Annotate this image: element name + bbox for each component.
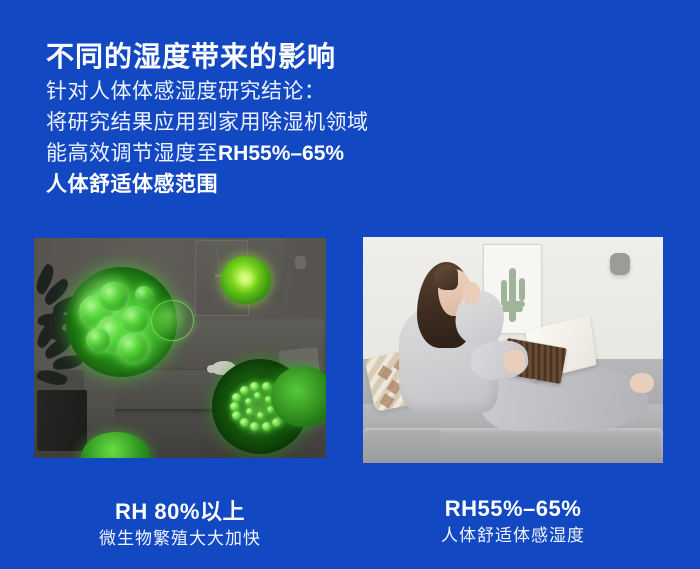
body-copy: 针对人体体感湿度研究结论： 将研究结果应用到家用除湿机领域 能高效调节湿度至RH… xyxy=(46,76,369,200)
body-line-2: 将研究结果应用到家用除湿机领域 xyxy=(46,107,369,138)
photo-comfort-humidity-woman xyxy=(363,237,663,463)
wall-knob-icon xyxy=(295,256,306,269)
body-line-3-prefix: 能高效调节湿度至 xyxy=(46,142,218,165)
germ-spike-ring xyxy=(260,406,264,410)
germ-spike-inner xyxy=(245,398,252,405)
cushion-motif xyxy=(377,365,392,380)
caption-left-title: RH 80%以上 xyxy=(34,498,326,526)
humidity-infographic-poster: 不同的湿度带来的影响 针对人体体感湿度研究结论： 将研究结果应用到家用除湿机领域… xyxy=(0,0,700,569)
caption-right-subtitle: 人体舒适体感湿度 xyxy=(363,523,663,549)
plant-leaf xyxy=(35,366,68,388)
body-line-4: 人体舒适体感范围 xyxy=(46,169,369,200)
caption-right: RH55%–65% 人体舒适体感湿度 xyxy=(363,495,663,549)
germ-spike xyxy=(240,386,249,395)
germ-spike xyxy=(262,382,271,391)
germ-sphere-small-top xyxy=(221,256,271,304)
woman-hair-fringe xyxy=(434,265,458,290)
germ-spike xyxy=(262,422,271,431)
caption-left: RH 80%以上 微生物繁殖大大加快 xyxy=(34,498,326,552)
woman-hand-on-head xyxy=(462,282,480,305)
body-line-1: 针对人体体感湿度研究结论： xyxy=(46,76,369,107)
germ-spike xyxy=(250,422,259,431)
cushion-motif xyxy=(380,393,395,408)
germ-spike xyxy=(250,382,259,391)
germ-spike-inner xyxy=(254,392,261,399)
germ-spike xyxy=(230,402,239,411)
woman-foot xyxy=(630,373,654,393)
sofa-arm xyxy=(363,430,441,463)
cactus-icon xyxy=(509,268,516,323)
germ-spike xyxy=(240,418,249,427)
germ-blob xyxy=(122,306,149,332)
cactus-arm-right xyxy=(519,278,525,301)
germ-spike xyxy=(232,411,241,420)
page-title: 不同的湿度带来的影响 xyxy=(46,39,336,74)
germ-spike xyxy=(232,393,241,402)
germ-blob xyxy=(117,333,148,364)
germ-spike-inner xyxy=(246,408,253,415)
photo-high-humidity-germs xyxy=(34,238,326,458)
body-line-3: 能高效调节湿度至RH55%–65% xyxy=(46,138,369,169)
caption-right-title: RH55%–65% xyxy=(363,495,663,523)
caption-left-subtitle: 微生物繁殖大大加快 xyxy=(34,526,326,552)
germ-sphere-outline xyxy=(151,300,194,342)
wall-thermostat-icon xyxy=(610,253,630,275)
body-line-3-highlight: RH55%–65% xyxy=(218,142,344,165)
germ-spike xyxy=(272,418,281,427)
germ-blob xyxy=(135,286,153,304)
woman-hand-on-book xyxy=(504,350,525,373)
germ-spike-inner xyxy=(257,412,264,419)
germ-blob xyxy=(99,282,128,311)
